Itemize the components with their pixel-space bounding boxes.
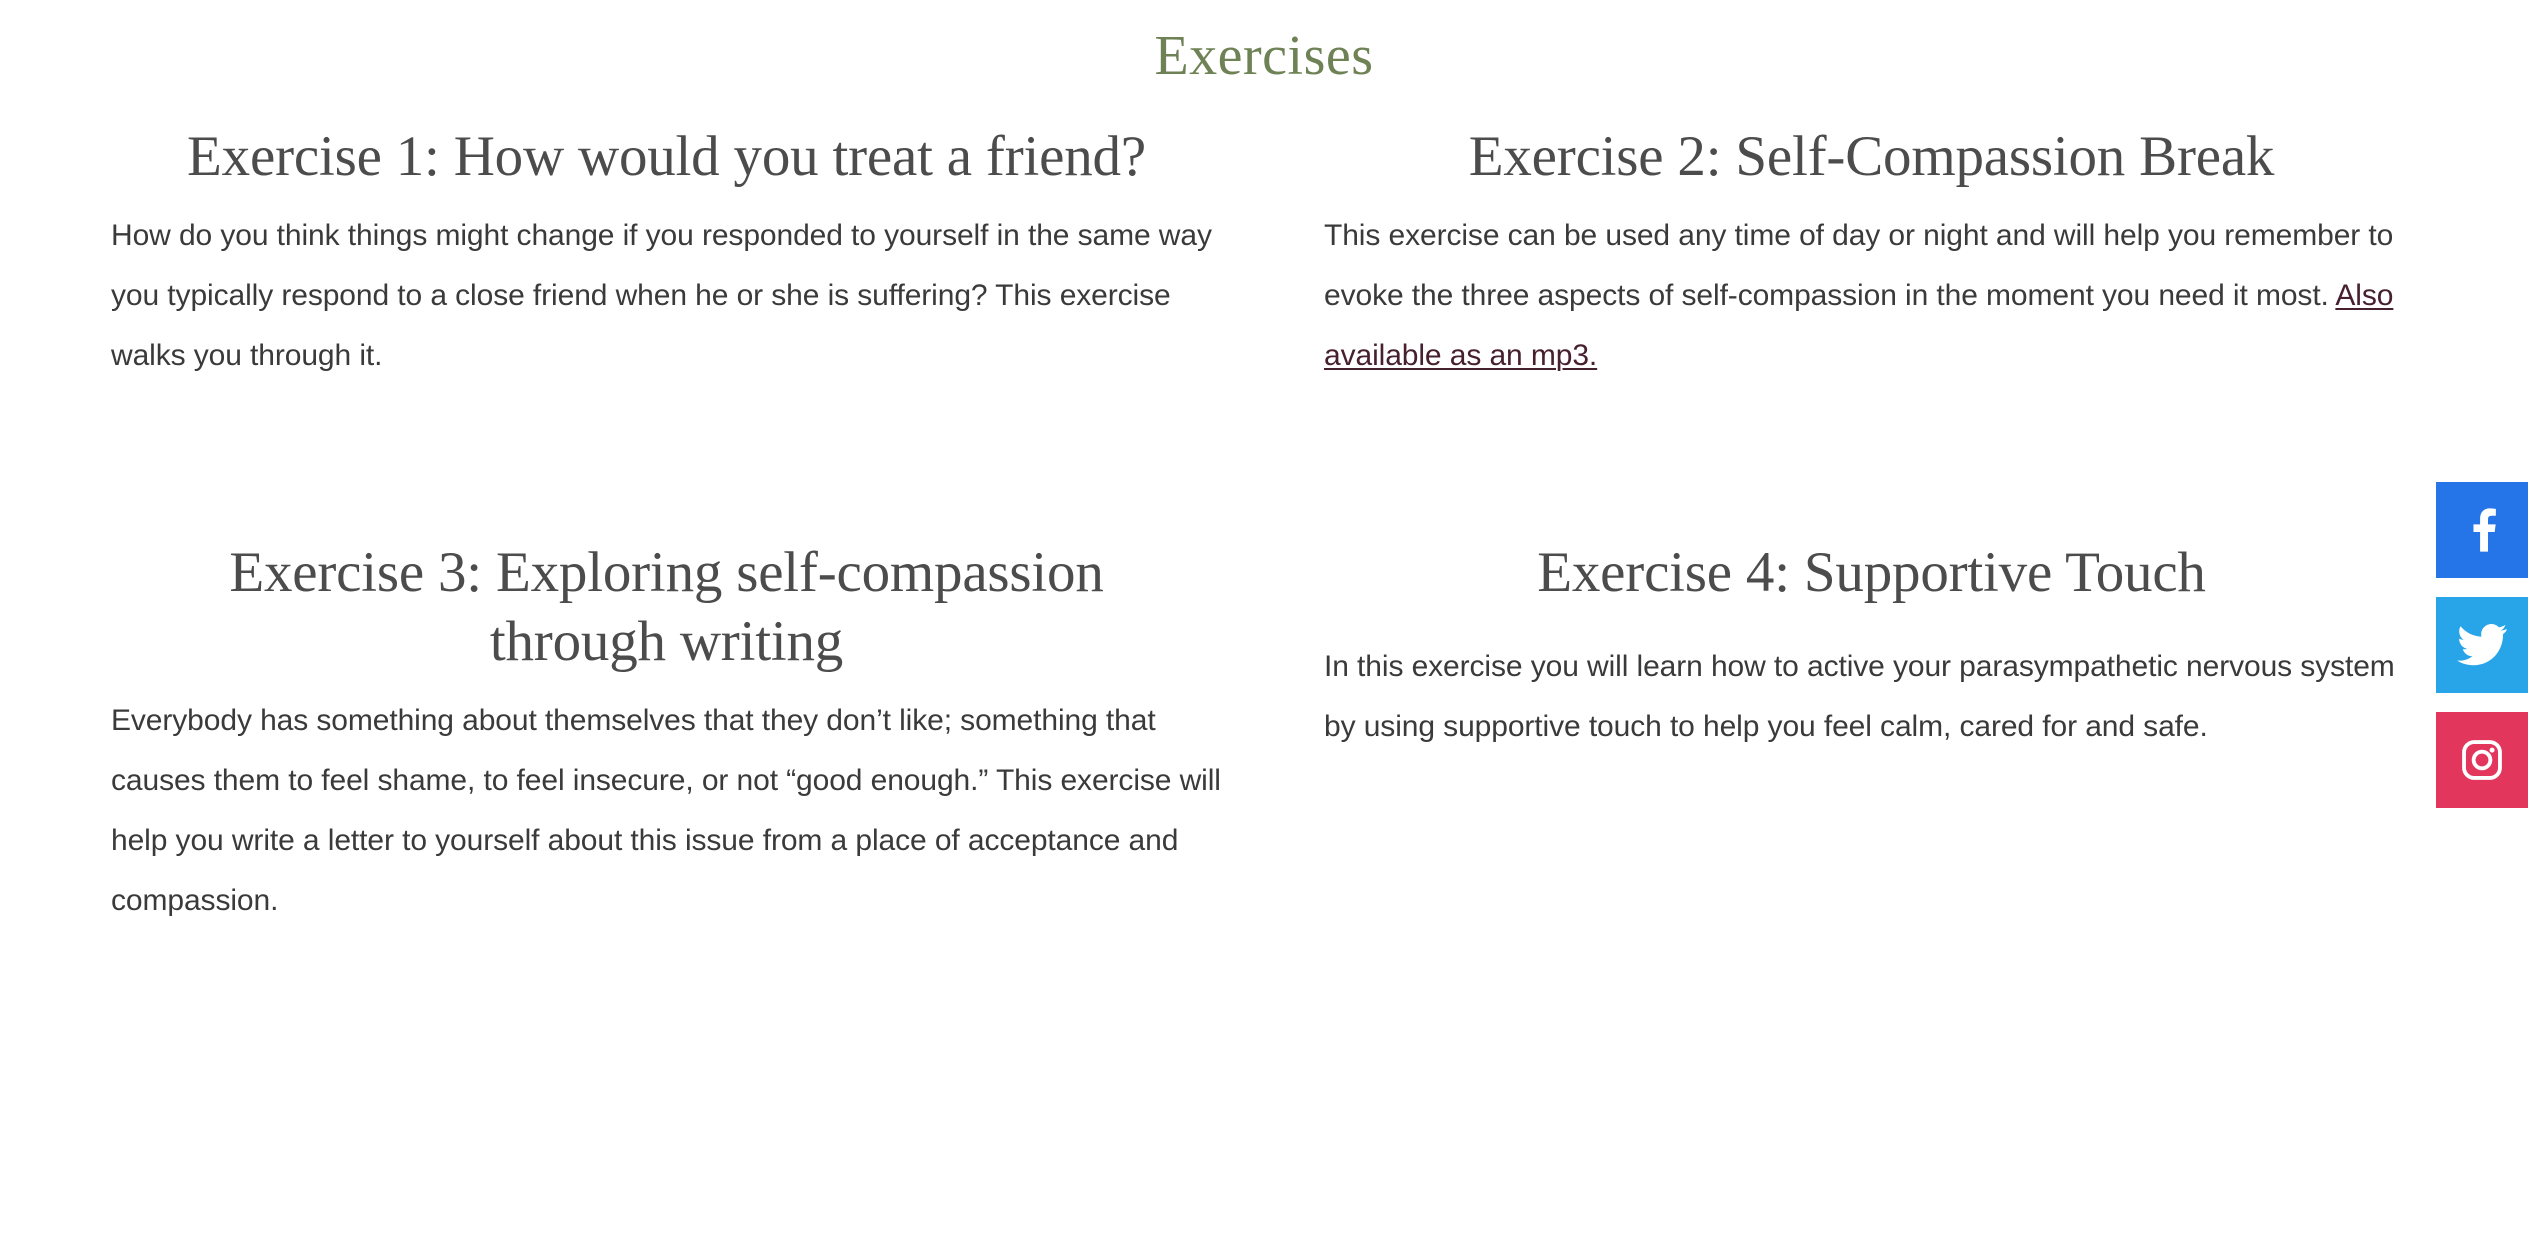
exercise-2-body: This exercise can be used any time of da… xyxy=(1314,206,2429,386)
page-title: Exercises xyxy=(0,0,2528,88)
exercise-card-3: Exercise 3: Exploring self-compassion th… xyxy=(109,386,1224,931)
twitter-share-button[interactable] xyxy=(2436,597,2528,693)
exercise-card-2: Exercise 2: Self-Compassion Break This e… xyxy=(1314,88,2429,386)
exercise-3-body-text: Everybody has something about themselves… xyxy=(111,704,1221,917)
exercise-3-body: Everybody has something about themselves… xyxy=(109,691,1224,931)
exercise-card-1: Exercise 1: How would you treat a friend… xyxy=(109,88,1224,386)
exercise-1-body: How do you think things might change if … xyxy=(109,206,1224,386)
exercise-2-title: Exercise 2: Self-Compassion Break xyxy=(1314,122,2429,192)
exercise-3-title: Exercise 3: Exploring self-compassion th… xyxy=(109,538,1224,677)
exercise-1-body-text: How do you think things might change if … xyxy=(111,219,1212,372)
exercise-1-title: Exercise 1: How would you treat a friend… xyxy=(109,122,1224,192)
exercise-4-body-text: In this exercise you will learn how to a… xyxy=(1324,650,2395,743)
facebook-icon xyxy=(2462,508,2502,552)
twitter-icon xyxy=(2457,624,2507,666)
exercises-page: Exercises Exercise 1: How would you trea… xyxy=(0,0,2528,1246)
instagram-icon xyxy=(2460,738,2504,782)
social-share-rail xyxy=(2436,482,2528,808)
instagram-share-button[interactable] xyxy=(2436,712,2528,808)
exercise-4-body: In this exercise you will learn how to a… xyxy=(1314,629,2429,757)
facebook-share-button[interactable] xyxy=(2436,482,2528,578)
exercise-card-4: Exercise 4: Supportive Touch In this exe… xyxy=(1314,386,2429,931)
exercises-grid: Exercise 1: How would you treat a friend… xyxy=(99,88,2429,931)
exercise-2-body-text: This exercise can be used any time of da… xyxy=(1324,219,2393,312)
exercise-4-title: Exercise 4: Supportive Touch xyxy=(1314,538,2429,608)
